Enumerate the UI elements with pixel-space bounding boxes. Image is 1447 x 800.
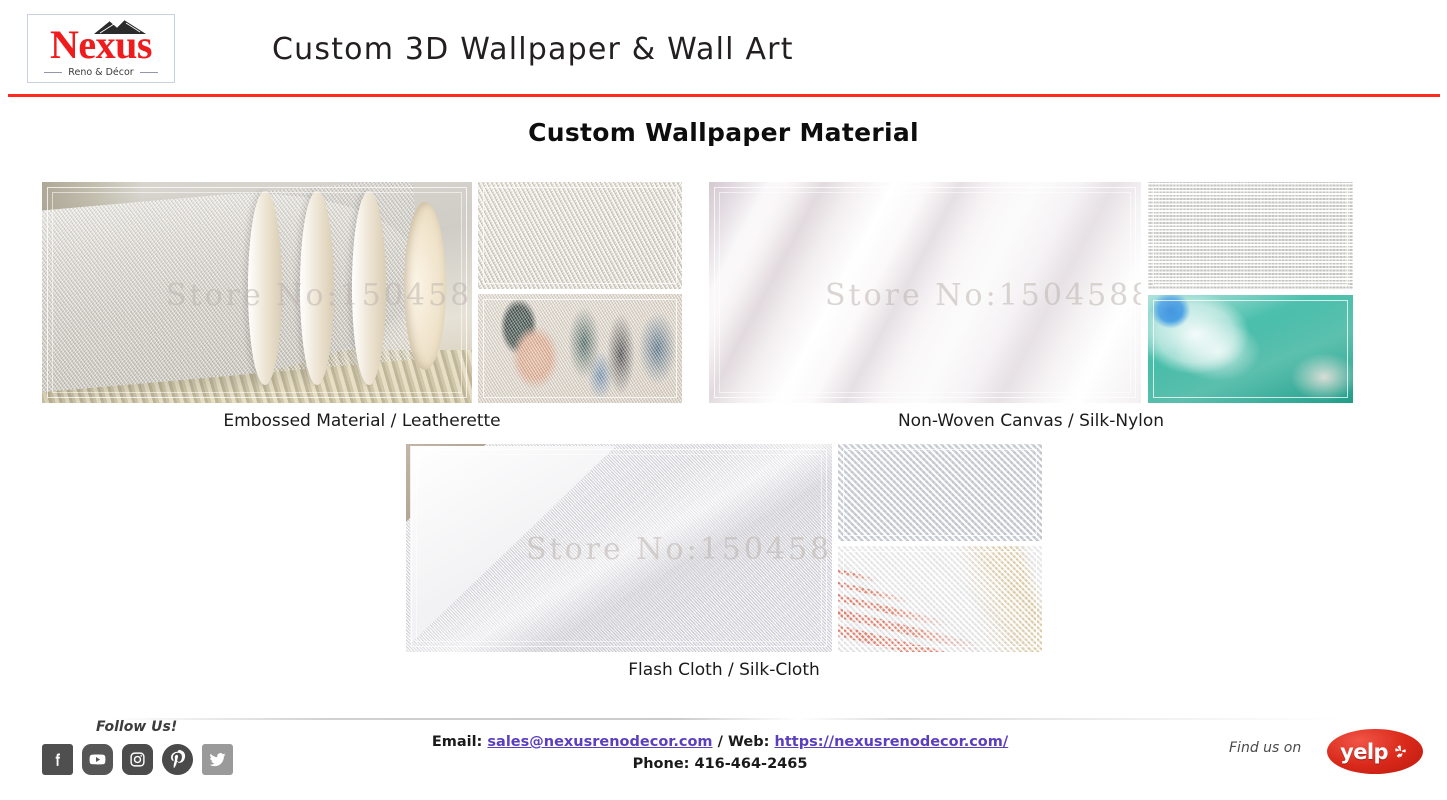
red-stripe-art [838, 546, 1042, 652]
logo-tagline: Reno & Décor [68, 67, 133, 78]
contact-info: Email: sales@nexusrenodecor.com / Web: h… [380, 732, 1060, 774]
silk-fabric-art [709, 182, 1141, 403]
website-link[interactable]: https://nexusrenodecor.com/ [775, 734, 1009, 750]
page-title: Custom Wallpaper Material [0, 118, 1447, 147]
email-label: Email: [432, 734, 483, 750]
material-panel-non-woven: Store No:1504588 Non-Woven Canvas / Silk… [709, 182, 1353, 432]
embossed-texture-art [478, 182, 682, 289]
floral-grain-overlay [478, 294, 682, 403]
header-divider [8, 94, 1440, 97]
contact-separator: / Web: [718, 734, 770, 750]
silk-sheen-overlay [709, 182, 1141, 403]
yelp-badge[interactable]: yelp [1327, 729, 1423, 774]
nonwoven-mesh-art [1148, 182, 1353, 290]
embossed-roll-art [42, 182, 472, 403]
logo-tagline-row: Reno & Décor [28, 67, 174, 78]
logo-rule-left [44, 72, 62, 73]
roll-edge-2 [300, 191, 334, 385]
email-link[interactable]: sales@nexusrenodecor.com [487, 734, 712, 750]
panel-embossed-main-image[interactable]: Store No:1504588 [42, 182, 472, 403]
embossed-floral-art [478, 294, 682, 403]
material-panel-flash-cloth: Store No:1504588 Flash Cloth / Silk-Clot… [406, 444, 1042, 694]
yelp-wordmark: yelp [1340, 740, 1388, 764]
panel-embossed-caption: Embossed Material / Leatherette [42, 411, 682, 431]
find-us-on-label: Find us on [1229, 740, 1301, 756]
logo-rule-right [140, 72, 158, 73]
facebook-icon[interactable] [42, 744, 73, 775]
teal-floral-art [1148, 295, 1353, 403]
panel-nonwoven-caption: Non-Woven Canvas / Silk-Nylon [709, 411, 1353, 431]
twitter-icon[interactable] [202, 744, 233, 775]
pinterest-icon[interactable] [162, 744, 193, 775]
panel-embossed-thumb-floral[interactable] [478, 294, 682, 403]
logo-wordmark: Nexus [28, 25, 174, 65]
phone-text: Phone: 416-464-2465 [380, 754, 1060, 774]
panel-nonwoven-thumb-mesh[interactable] [1148, 182, 1353, 290]
flash-cloth-art [406, 444, 832, 652]
panel-embossed-thumb-texture[interactable] [478, 182, 682, 289]
roll-mouth [404, 202, 446, 370]
panel-flashcloth-thumb-red-stripes[interactable] [838, 546, 1042, 652]
roll-edge-3 [352, 191, 386, 385]
flash-fold-highlight [406, 444, 832, 652]
page-header: Nexus Reno & Décor Custom 3D Wallpaper &… [0, 0, 1447, 96]
youtube-icon[interactable] [82, 744, 113, 775]
material-panel-embossed: Store No:1504588 Embossed Material / Lea… [42, 182, 682, 432]
roll-edge-1 [248, 191, 282, 385]
teal-sheen-overlay [1148, 295, 1353, 403]
social-links [42, 744, 233, 775]
follow-us-label: Follow Us! [96, 719, 177, 735]
brand-logo[interactable]: Nexus Reno & Décor [27, 14, 175, 83]
flash-dot-overlay [838, 546, 1042, 652]
header-title: Custom 3D Wallpaper & Wall Art [272, 32, 794, 67]
instagram-icon[interactable] [122, 744, 153, 775]
flash-bump-texture-art [838, 444, 1042, 541]
panel-flashcloth-thumb-bump[interactable] [838, 444, 1042, 541]
panel-flashcloth-main-image[interactable]: Store No:1504588 [406, 444, 832, 652]
panel-nonwoven-main-image[interactable]: Store No:1504588 [709, 182, 1141, 403]
footer-divider [110, 718, 1340, 720]
panel-flashcloth-caption: Flash Cloth / Silk-Cloth [406, 660, 1042, 680]
yelp-burst-icon [1390, 742, 1410, 762]
panel-nonwoven-thumb-teal-floral[interactable] [1148, 295, 1353, 403]
